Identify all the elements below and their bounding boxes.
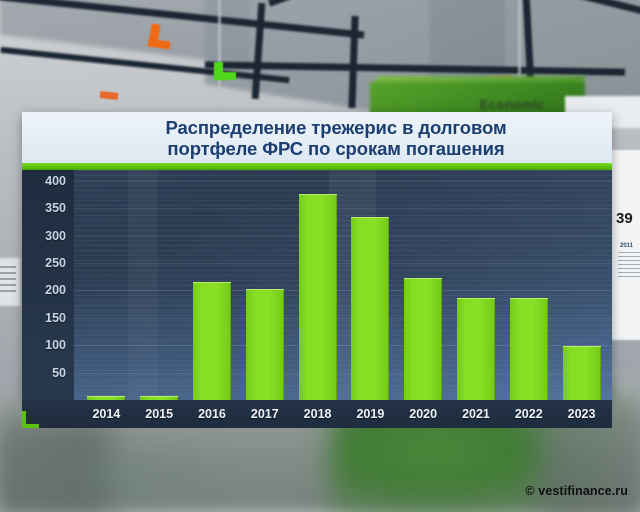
x-axis-label-2017: 2017 [246, 407, 284, 421]
bar-2023 [563, 346, 601, 400]
x-axis-label-2021: 2021 [457, 407, 495, 421]
background-economic-label: Economic [480, 97, 545, 112]
y-axis-tick-label: 400 [45, 174, 66, 188]
x-axis-label-2019: 2019 [351, 407, 389, 421]
green-corner-marker [214, 72, 236, 80]
y-axis-tick-label: 100 [45, 338, 66, 352]
y-axis-tick-label: 250 [45, 256, 66, 270]
structure-edge [218, 0, 221, 108]
plot-area: 50100150200250300350400 [22, 170, 612, 400]
background-page-year: 2011 [620, 243, 633, 249]
y-axis-tick-label: 50 [52, 366, 66, 380]
corner-accent-mark [22, 411, 39, 428]
bar-2017 [246, 289, 284, 400]
bar-2014 [87, 396, 125, 400]
watermark: © vestifinance.ru [525, 484, 628, 498]
x-axis-label-2015: 2015 [140, 407, 178, 421]
background-page-left-lines [0, 266, 16, 296]
y-axis-tick-label: 350 [45, 201, 66, 215]
chart-panel: Распределение трежерис в долговом портфе… [22, 112, 612, 400]
title-accent-rule [22, 163, 612, 170]
y-axis: 50100150200250300350400 [22, 170, 74, 400]
bar-2018 [299, 194, 337, 400]
background-page-text-lines [618, 252, 640, 278]
y-axis-tick-label: 150 [45, 311, 66, 325]
bar-2019 [351, 217, 389, 400]
x-axis-label-2023: 2023 [563, 407, 601, 421]
bar-2022 [510, 298, 548, 400]
bar-2021 [457, 298, 495, 400]
y-axis-tick-label: 300 [45, 229, 66, 243]
background-blur-left [0, 430, 210, 512]
background-page-number: 39 [616, 210, 633, 227]
chart-title-bar: Распределение трежерис в долговом портфе… [22, 112, 612, 163]
bar-2016 [193, 282, 231, 400]
x-axis-label-2020: 2020 [404, 407, 442, 421]
bar-2020 [404, 278, 442, 400]
x-axis: 2014201520162017201820192020202120222023 [22, 400, 612, 428]
y-axis-tick-label: 200 [45, 283, 66, 297]
x-axis-label-2018: 2018 [299, 407, 337, 421]
bar-series [74, 170, 612, 400]
x-axis-label-2022: 2022 [510, 407, 548, 421]
x-axis-label-2014: 2014 [87, 407, 125, 421]
page-title: Распределение трежерис в долговом портфе… [22, 117, 612, 159]
bar-2015 [140, 396, 178, 400]
x-axis-label-2016: 2016 [193, 407, 231, 421]
